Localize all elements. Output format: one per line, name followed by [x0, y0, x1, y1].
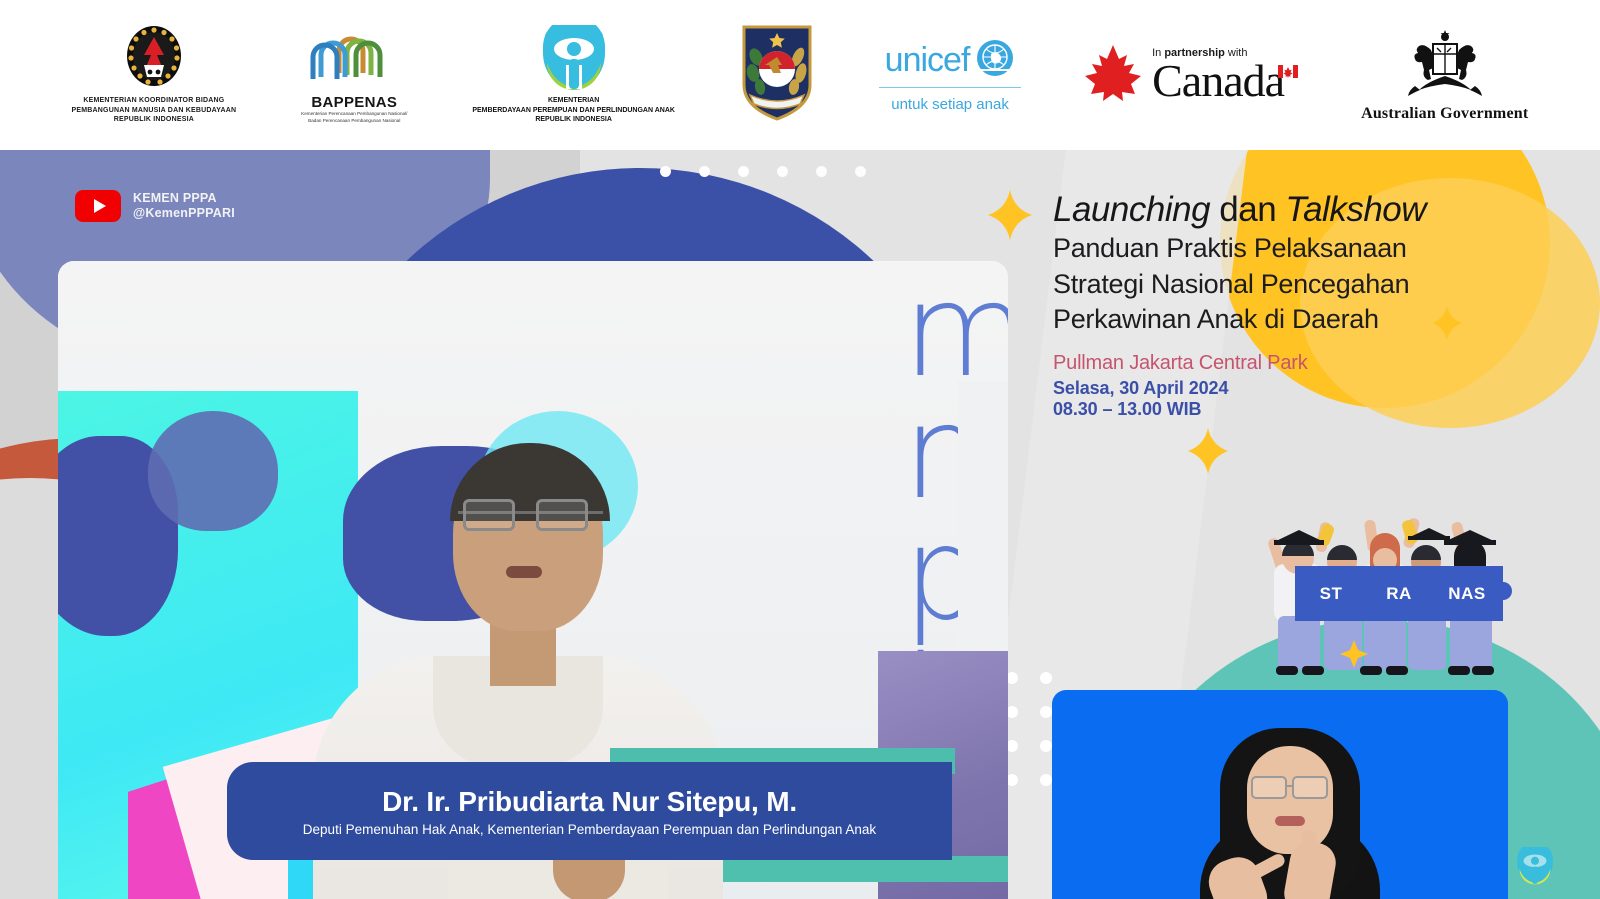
logo-wordmark: Canada: [1152, 59, 1284, 103]
decor-dot: [855, 166, 866, 177]
logo-kemendagri: [738, 23, 816, 128]
logo-caption: KEMENTERIAN KOORDINATOR BIDANG PEMBANGUN…: [72, 96, 237, 124]
slide-subtitle-line-2: Strategi Nasional Pencegahan: [1053, 269, 1573, 301]
logo-wordmark: BAPPENAS: [311, 94, 397, 111]
decor-dot-row-top: [660, 166, 866, 177]
interpreter-mouth: [1275, 816, 1305, 826]
slide-title-part-launching: Launching: [1053, 190, 1210, 229]
logo-tagline: untuk setiap anak: [891, 96, 1009, 113]
logo-wordmark: Australian Government: [1361, 105, 1528, 123]
kemendagri-shield-icon: [738, 23, 816, 128]
logo-kemenko-pmk: KEMENTERIAN KOORDINATOR BIDANG PEMBANGUN…: [72, 25, 237, 124]
youtube-channel-name: KEMEN PPPA: [133, 191, 235, 206]
interpreter-finger-right: [1302, 830, 1316, 874]
logo-unicef: unicef untuk setiap anak: [879, 38, 1021, 113]
partner-logo-bar: KEMENTERIAN KOORDINATOR BIDANG PEMBANGUN…: [0, 0, 1600, 150]
slide-subtitle-line-3: Perkawinan Anak di Daerah: [1053, 304, 1573, 336]
decor-dot: [1040, 774, 1052, 786]
youtube-handle: @KemenPPPARI: [133, 206, 235, 221]
decor-dot: [660, 166, 671, 177]
lower-third-name-bar: Dr. Ir. Pribudiarta Nur Sitepu, M. Deput…: [227, 762, 952, 860]
sparkle-icon: [1188, 428, 1228, 479]
speaker-role: Deputi Pemenuhan Hak Anak, Kementerian P…: [303, 822, 876, 837]
slide-title-part-dan: dan: [1210, 190, 1285, 229]
decor-dot: [699, 166, 710, 177]
kemenpppa-family-icon: [1512, 847, 1558, 885]
interpreter-face: [1247, 746, 1333, 854]
sign-language-interpreter-feed[interactable]: [1052, 690, 1508, 899]
decor-dot-column-right: [1040, 672, 1052, 786]
speaker-glasses-lens: [463, 499, 515, 531]
interpreter-glasses-lens: [1251, 776, 1287, 799]
interpreter-glasses-lens: [1292, 776, 1328, 799]
decor-dot: [777, 166, 788, 177]
slide-time: 08.30 – 13.00 WIB: [1053, 399, 1573, 420]
slide-subtitle-line-1: Panduan Praktis Pelaksanaan: [1053, 233, 1573, 265]
presentation-slide: KEMEN PPPA @KemenPPPARI mmapete: [0, 148, 1600, 899]
backdrop-illustration-figure: [148, 411, 278, 531]
logo-wordmark: unicef: [885, 43, 970, 77]
unicef-logo-icon: [975, 38, 1015, 83]
divider: [879, 87, 1021, 88]
speaker-glasses-lens: [536, 499, 588, 531]
logo-kemen-pppa: KEMENTERIAN PEMBERDAYAAN PEREMPUAN DAN P…: [472, 25, 675, 125]
broadcast-screen: KEMENTERIAN KOORDINATOR BIDANG PEMBANGUN…: [0, 0, 1600, 899]
puzzle-piece: ST: [1295, 566, 1367, 621]
australian-coat-of-arms-icon: [1385, 28, 1505, 105]
garuda-emblem-icon: [126, 25, 182, 92]
puzzle-pieces: ST RA NAS: [1295, 566, 1499, 621]
slide-text-block: Launching dan Talkshow Panduan Praktis P…: [1053, 190, 1573, 420]
slide-date: Selasa, 30 April 2024: [1053, 378, 1573, 399]
decor-dot: [1040, 706, 1052, 718]
logo-caption: KEMENTERIAN PEMBERDAYAAN PEREMPUAN DAN P…: [472, 96, 675, 125]
bappenas-logo-icon: [299, 25, 409, 92]
interpreter-glasses-bridge: [1286, 785, 1294, 787]
decor-dot: [738, 166, 749, 177]
logo-canada: In partnership with Canada: [1084, 43, 1298, 108]
speaker-name: Dr. Ir. Pribudiarta Nur Sitepu, M.: [382, 786, 797, 818]
logo-australian-government: Australian Government: [1361, 28, 1528, 123]
sparkle-icon: [988, 190, 1032, 245]
logo-bappenas: BAPPENAS Kementerian Perencanaan Pembang…: [299, 25, 409, 125]
speaker-mouth: [506, 566, 542, 578]
decor-dot: [1040, 740, 1052, 752]
decor-dot: [816, 166, 827, 177]
maple-leaf-icon: [1084, 43, 1142, 108]
youtube-watermark: KEMEN PPPA @KemenPPPARI: [75, 190, 235, 222]
canada-flag-icon: [1278, 65, 1298, 83]
decor-dot: [1040, 672, 1052, 684]
slide-title-part-talkshow: Talkshow: [1285, 190, 1426, 229]
youtube-play-icon: [75, 190, 121, 222]
slide-title: Launching dan Talkshow: [1053, 190, 1573, 229]
logo-caption: Kementerian Perencanaan Pembangunan Nasi…: [301, 111, 407, 125]
puzzle-piece: RA: [1363, 566, 1435, 621]
kemenpppa-family-icon: [535, 25, 613, 96]
slide-venue: Pullman Jakarta Central Park: [1053, 352, 1573, 375]
youtube-channel-text: KEMEN PPPA @KemenPPPARI: [133, 191, 235, 222]
puzzle-piece: NAS: [1431, 566, 1503, 621]
